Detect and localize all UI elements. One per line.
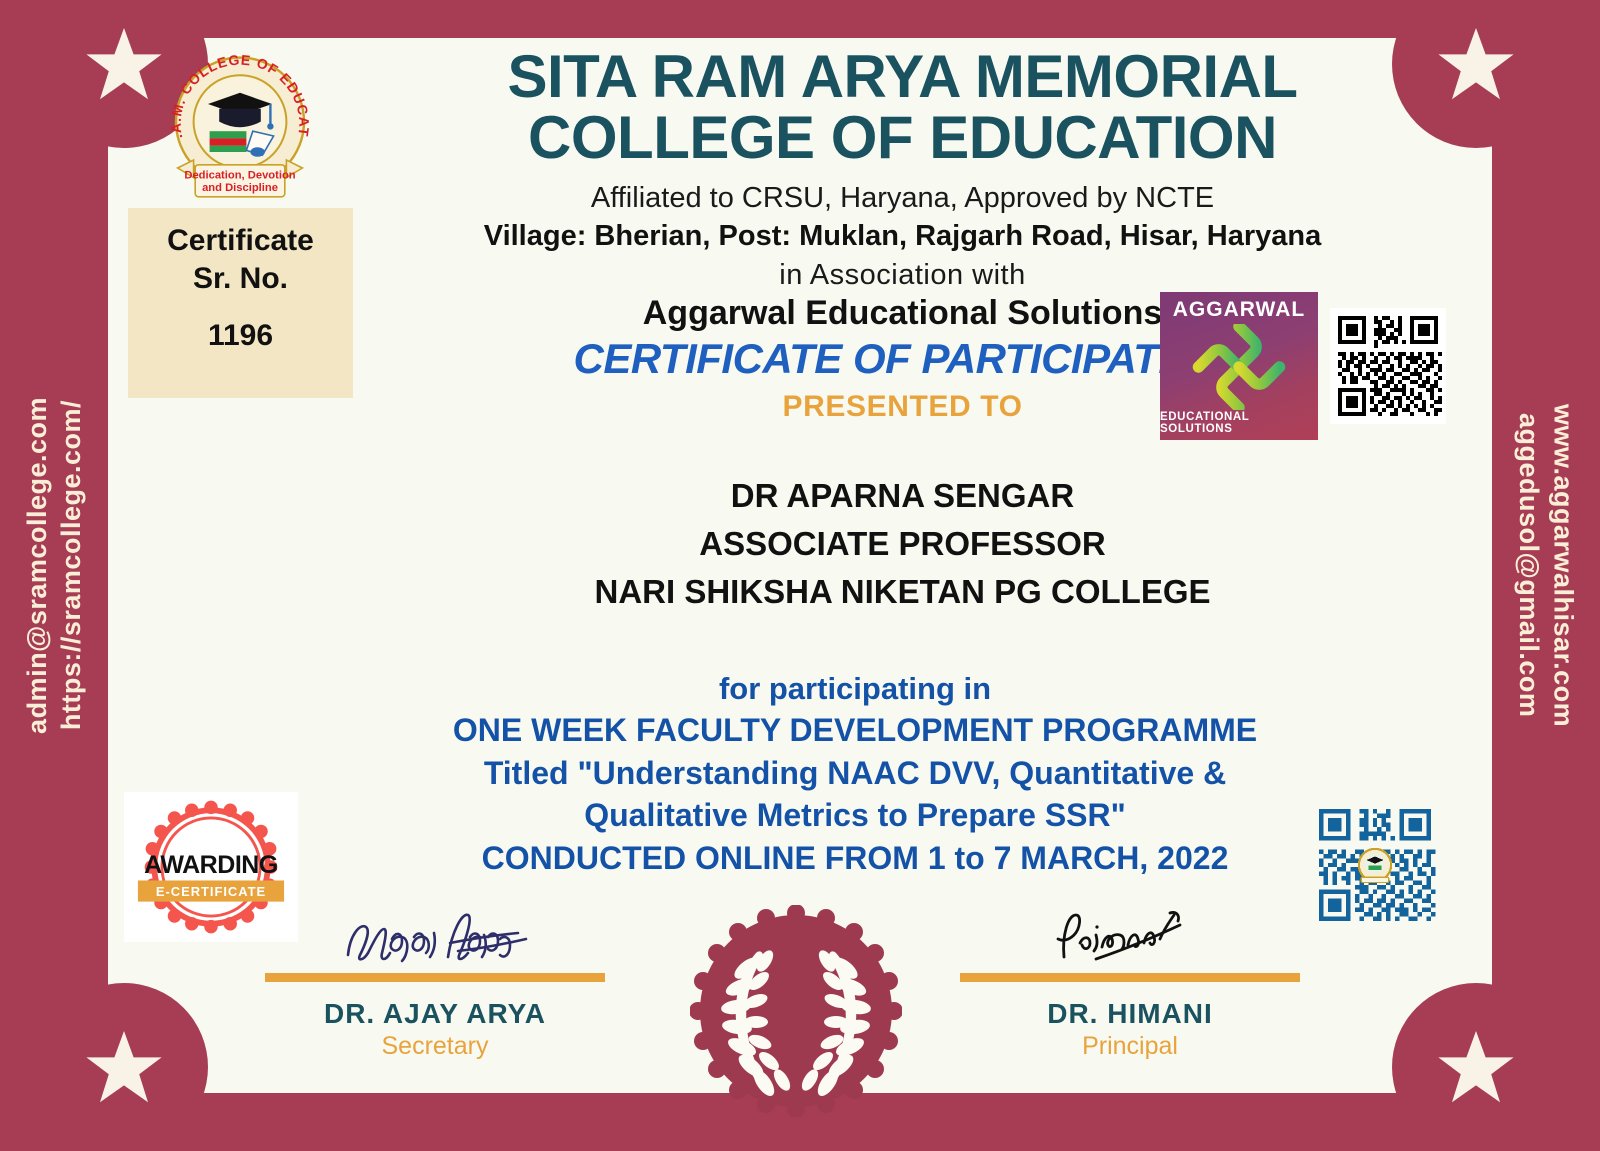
partner-email-text: aggedusol@gmail.com — [1515, 413, 1543, 717]
right-contact-rail: aggedusol@gmail.com www.aggarwalhisar.co… — [1492, 0, 1600, 1131]
college-name-line1: SITA RAM ARYA MEMORIAL — [355, 46, 1450, 107]
star-icon — [1436, 24, 1516, 104]
partner-website-text: www.aggarwalhisar.com — [1549, 404, 1577, 727]
seal-ribbon-line1: Dedication, Devotion — [184, 169, 295, 181]
corner-decoration-bottom-right — [1392, 983, 1560, 1151]
certificate-document: admin@sramcollege.com https://sramcolleg… — [0, 0, 1600, 1131]
recipient-designation: ASSOCIATE PROFESSOR — [355, 520, 1450, 568]
qr-code-icon — [1330, 308, 1446, 424]
aggarwal-logo: AGGARWAL EDUCATIONAL SOLUTIONS — [1160, 292, 1318, 440]
serial-label-line1: Certificate — [167, 222, 314, 260]
left-contact-rail: admin@sramcollege.com https://sramcolleg… — [0, 0, 108, 1131]
affiliation-text: Affiliated to CRSU, Haryana, Approved by… — [355, 182, 1450, 215]
star-icon — [1436, 1027, 1516, 1107]
recipient-name: DR APARNA SENGAR — [355, 472, 1450, 520]
college-name: SITA RAM ARYA MEMORIAL COLLEGE OF EDUCAT… — [355, 46, 1450, 168]
star-icon — [84, 24, 164, 104]
signature-block-principal: DR. HIMANI Principal — [960, 895, 1300, 1061]
certificate-serial-box: Certificate Sr. No. 1196 — [128, 208, 353, 398]
signature-rule — [265, 973, 605, 982]
serial-number: 1196 — [208, 319, 273, 353]
principal-role: Principal — [960, 1032, 1300, 1061]
programme-title-line1: Titled "Understanding NAAC DVV, Quantita… — [300, 752, 1410, 795]
body-lead-text: for participating in — [300, 668, 1410, 709]
laurel-wreath-icon — [690, 905, 902, 1117]
secretary-role: Secretary — [265, 1032, 605, 1061]
recipient-institution: NARI SHIKSHA NIKETAN PG COLLEGE — [355, 568, 1450, 616]
recipient-block: DR APARNA SENGAR ASSOCIATE PROFESSOR NAR… — [355, 472, 1450, 616]
star-icon — [84, 1027, 164, 1107]
college-address: Village: Bherian, Post: Muklan, Rajgarh … — [355, 220, 1450, 253]
handwritten-signature-icon — [330, 895, 540, 967]
signature-rule — [960, 973, 1300, 982]
aggarwal-knot-icon — [1181, 324, 1297, 410]
programme-dates: CONDUCTED ONLINE FROM 1 to 7 MARCH, 2022 — [300, 837, 1410, 880]
programme-title-line2: Qualitative Metrics to Prepare SSR" — [300, 794, 1410, 837]
seal-ribbon-line2: and Discipline — [202, 182, 278, 194]
college-website-text: https://sramcollege.com/ — [57, 400, 85, 730]
qr-code-icon — [1310, 800, 1440, 930]
secretary-name: DR. AJAY ARYA — [265, 998, 605, 1030]
signature-block-secretary: DR. AJAY ARYA Secretary — [265, 895, 605, 1061]
aggarwal-logo-top-text: AGGARWAL — [1173, 298, 1305, 322]
college-email-text: admin@sramcollege.com — [23, 397, 51, 734]
association-label: in Association with — [355, 259, 1450, 292]
certificate-body: for participating in ONE WEEK FACULTY DE… — [300, 668, 1410, 879]
handwritten-signature-icon — [1040, 895, 1220, 967]
programme-name: ONE WEEK FACULTY DEVELOPMENT PROGRAMME — [300, 709, 1410, 752]
corner-decoration-bottom-left — [40, 983, 208, 1151]
secretary-signature-image — [265, 895, 605, 967]
awarding-badge-banner-text: E-CERTIFICATE — [156, 884, 266, 899]
principal-name: DR. HIMANI — [960, 998, 1300, 1030]
principal-signature-image — [960, 895, 1300, 967]
college-seal-icon: S.R.A.M. COLLEGE OF EDUCATION Dedication… — [160, 48, 320, 208]
serial-label-line2: Sr. No. — [193, 260, 288, 298]
aggarwal-logo-bottom-text: EDUCATIONAL SOLUTIONS — [1160, 411, 1318, 435]
awarding-badge-main-text: AWARDING — [144, 851, 278, 879]
college-name-line2: COLLEGE OF EDUCATION — [355, 107, 1450, 168]
